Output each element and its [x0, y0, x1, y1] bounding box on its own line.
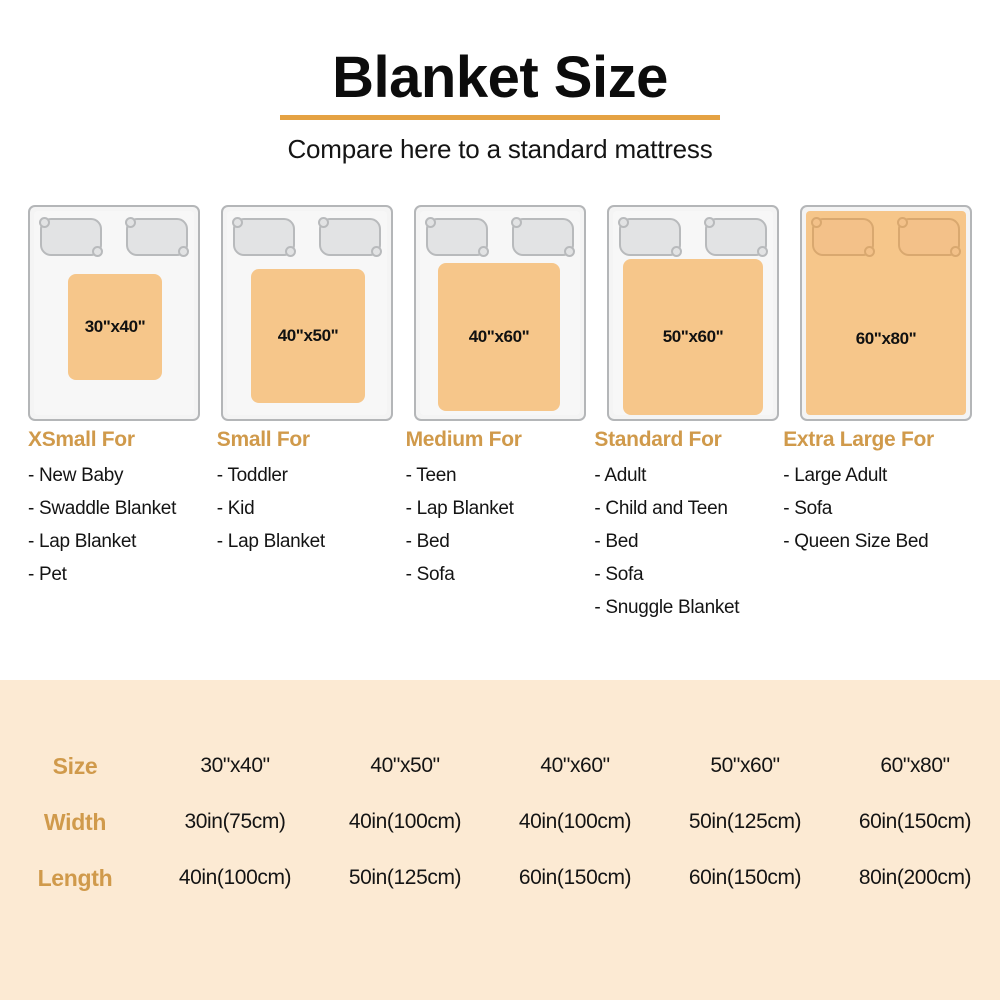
- category-title: Medium For: [406, 428, 595, 452]
- category-list-item: - Large Adult: [783, 465, 972, 487]
- blanket-shape: 40"x50": [251, 269, 365, 403]
- table-row: Length 40in(100cm) 50in(125cm) 60in(150c…: [0, 850, 1000, 906]
- blanket-shape: 40"x60": [438, 263, 560, 411]
- category-list-item: - Queen Size Bed: [783, 531, 972, 553]
- bed-diagram-xsmall: 30"x40": [28, 205, 200, 421]
- specification-table: Size 30"x40" 40"x50" 40"x60" 50"x60" 60"…: [0, 738, 1000, 906]
- pillow-right-icon: [705, 218, 767, 256]
- category-list-item: - Child and Teen: [594, 498, 783, 520]
- category-list-item: - Sofa: [406, 564, 595, 586]
- blanket-size-label: 50"x60": [663, 327, 724, 347]
- title-underline-rule: [280, 115, 720, 120]
- blanket-shape: 60"x80": [802, 263, 970, 415]
- table-cell: 60"x80": [830, 738, 1000, 794]
- category-column-extra-large: Extra Large For - Large Adult - Sofa - Q…: [783, 428, 972, 630]
- category-column-standard: Standard For - Adult - Child and Teen - …: [594, 428, 783, 630]
- category-list-item: - Sofa: [594, 564, 783, 586]
- table-cell: 80in(200cm): [830, 850, 1000, 906]
- blanket-shape: 50"x60": [623, 259, 763, 415]
- pillow-right-icon: [898, 218, 960, 256]
- row-label-length: Length: [0, 850, 150, 906]
- table-cell: 50"x60": [660, 738, 830, 794]
- blanket-size-label: 40"x60": [469, 327, 530, 347]
- bed-diagram-extra-large: 60"x80": [800, 205, 972, 421]
- table-cell: 60in(150cm): [490, 850, 660, 906]
- bed-diagram-small: 40"x50": [221, 205, 393, 421]
- pillow-right-icon: [126, 218, 188, 256]
- row-label-width: Width: [0, 794, 150, 850]
- page-subtitle: Compare here to a standard mattress: [0, 134, 1000, 165]
- category-column-xsmall: XSmall For - New Baby - Swaddle Blanket …: [28, 428, 217, 630]
- category-column-small: Small For - Toddler - Kid - Lap Blanket: [217, 428, 406, 630]
- blanket-shape: 30"x40": [68, 274, 162, 380]
- bed-diagram-standard: 50"x60": [607, 205, 779, 421]
- pillow-left-icon: [40, 218, 102, 256]
- category-list-item: - Pet: [28, 564, 217, 586]
- table-cell: 40"x50": [320, 738, 490, 794]
- specification-panel: Size 30"x40" 40"x50" 40"x60" 50"x60" 60"…: [0, 680, 1000, 1000]
- category-list-item: - Lap Blanket: [406, 498, 595, 520]
- category-list-item: - Adult: [594, 465, 783, 487]
- table-cell: 30in(75cm): [150, 794, 320, 850]
- category-list-item: - Lap Blanket: [217, 531, 406, 553]
- table-cell: 60in(150cm): [660, 850, 830, 906]
- category-list-item: - Bed: [594, 531, 783, 553]
- table-cell: 60in(150cm): [830, 794, 1000, 850]
- row-label-size: Size: [0, 738, 150, 794]
- table-row: Width 30in(75cm) 40in(100cm) 40in(100cm)…: [0, 794, 1000, 850]
- category-list-item: - Bed: [406, 531, 595, 553]
- category-list-item: - Teen: [406, 465, 595, 487]
- category-title: Small For: [217, 428, 406, 452]
- blanket-size-label: 40"x50": [278, 326, 339, 346]
- blanket-size-label: 60"x80": [856, 329, 917, 349]
- category-title: Standard For: [594, 428, 783, 452]
- category-list-item: - New Baby: [28, 465, 217, 487]
- pillow-left-icon: [426, 218, 488, 256]
- pillow-left-icon: [812, 218, 874, 256]
- category-list-item: - Sofa: [783, 498, 972, 520]
- category-list-item: - Swaddle Blanket: [28, 498, 217, 520]
- table-cell: 40"x60": [490, 738, 660, 794]
- category-list-item: - Lap Blanket: [28, 531, 217, 553]
- table-cell: 40in(100cm): [150, 850, 320, 906]
- pillow-left-icon: [619, 218, 681, 256]
- blanket-size-label: 30"x40": [85, 317, 146, 337]
- page-title: Blanket Size: [0, 48, 1000, 109]
- pillow-right-icon: [319, 218, 381, 256]
- table-cell: 50in(125cm): [320, 850, 490, 906]
- category-columns-row: XSmall For - New Baby - Swaddle Blanket …: [0, 428, 1000, 630]
- category-list-item: - Toddler: [217, 465, 406, 487]
- table-cell: 40in(100cm): [320, 794, 490, 850]
- bed-diagram-medium: 40"x60": [414, 205, 586, 421]
- table-cell: 40in(100cm): [490, 794, 660, 850]
- table-row: Size 30"x40" 40"x50" 40"x60" 50"x60" 60"…: [0, 738, 1000, 794]
- category-title: XSmall For: [28, 428, 217, 452]
- category-title: Extra Large For: [783, 428, 972, 452]
- table-cell: 50in(125cm): [660, 794, 830, 850]
- category-list-item: - Kid: [217, 498, 406, 520]
- pillow-left-icon: [233, 218, 295, 256]
- category-column-medium: Medium For - Teen - Lap Blanket - Bed - …: [406, 428, 595, 630]
- page-header: Blanket Size Compare here to a standard …: [0, 0, 1000, 165]
- category-list-item: - Snuggle Blanket: [594, 597, 783, 619]
- table-cell: 30"x40": [150, 738, 320, 794]
- bed-diagrams-row: 30"x40" 40"x50" 40"x60" 50"x60" 60"x80": [0, 205, 1000, 425]
- pillow-right-icon: [512, 218, 574, 256]
